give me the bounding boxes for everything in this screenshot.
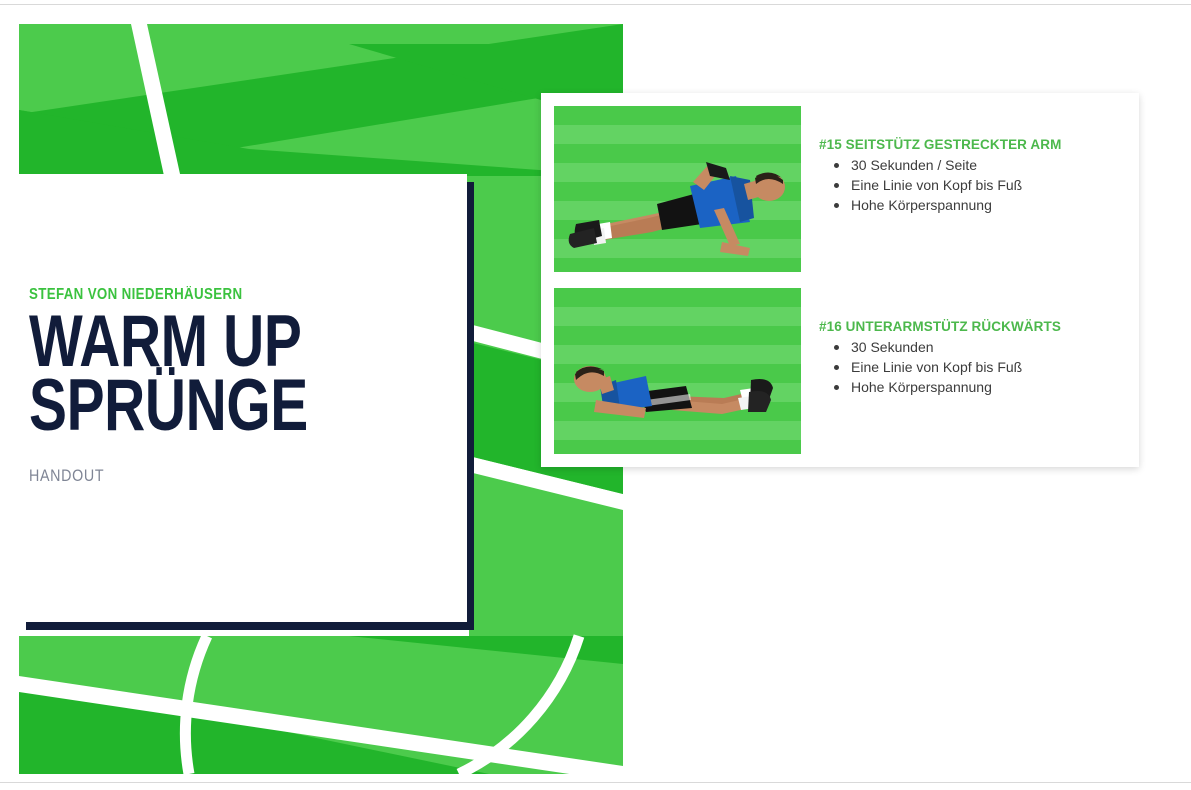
exercise-text: #16 UNTERARMSTÜTZ RÜCKWÄRTS 30 Sekunden …	[801, 288, 1061, 397]
exercise-card: #15 SEITSTÜTZ GESTRECKTER ARM 30 Sekunde…	[541, 93, 1139, 467]
exercise-row: #16 UNTERARMSTÜTZ RÜCKWÄRTS 30 Sekunden …	[554, 288, 1061, 454]
page-bottom-rule	[0, 782, 1191, 783]
exercise-title: #15 SEITSTÜTZ GESTRECKTER ARM	[819, 137, 1061, 152]
slide-canvas: STEFAN VON NIEDERHÄUSERN WARM UP SPRÜNGE…	[0, 5, 1191, 782]
exercise-text: #15 SEITSTÜTZ GESTRECKTER ARM 30 Sekunde…	[801, 106, 1061, 215]
list-item: Eine Linie von Kopf bis Fuß	[851, 175, 1061, 195]
exercise-bullet-list: 30 Sekunden / Seite Eine Linie von Kopf …	[819, 155, 1061, 215]
exercise-photo	[554, 288, 801, 454]
exercise-photo	[554, 106, 801, 272]
list-item: Hohe Körperspannung	[851, 195, 1061, 215]
exercise-title: #16 UNTERARMSTÜTZ RÜCKWÄRTS	[819, 319, 1061, 334]
reverse-forearm-plank-icon	[554, 288, 801, 454]
page-title: WARM UP SPRÜNGE	[29, 310, 357, 438]
exercise-bullet-list: 30 Sekunden Eine Linie von Kopf bis Fuß …	[819, 337, 1061, 397]
title-panel-content: STEFAN VON NIEDERHÄUSERN WARM UP SPRÜNGE…	[29, 286, 449, 486]
exercise-row: #15 SEITSTÜTZ GESTRECKTER ARM 30 Sekunde…	[554, 106, 1061, 272]
title-panel: STEFAN VON NIEDERHÄUSERN WARM UP SPRÜNGE…	[19, 174, 467, 622]
document-type-label: HANDOUT	[29, 466, 382, 486]
list-item: 30 Sekunden / Seite	[851, 155, 1061, 175]
list-item: Eine Linie von Kopf bis Fuß	[851, 357, 1061, 377]
list-item: 30 Sekunden	[851, 337, 1061, 357]
list-item: Hohe Körperspannung	[851, 377, 1061, 397]
side-plank-extended-arm-icon	[554, 106, 801, 272]
